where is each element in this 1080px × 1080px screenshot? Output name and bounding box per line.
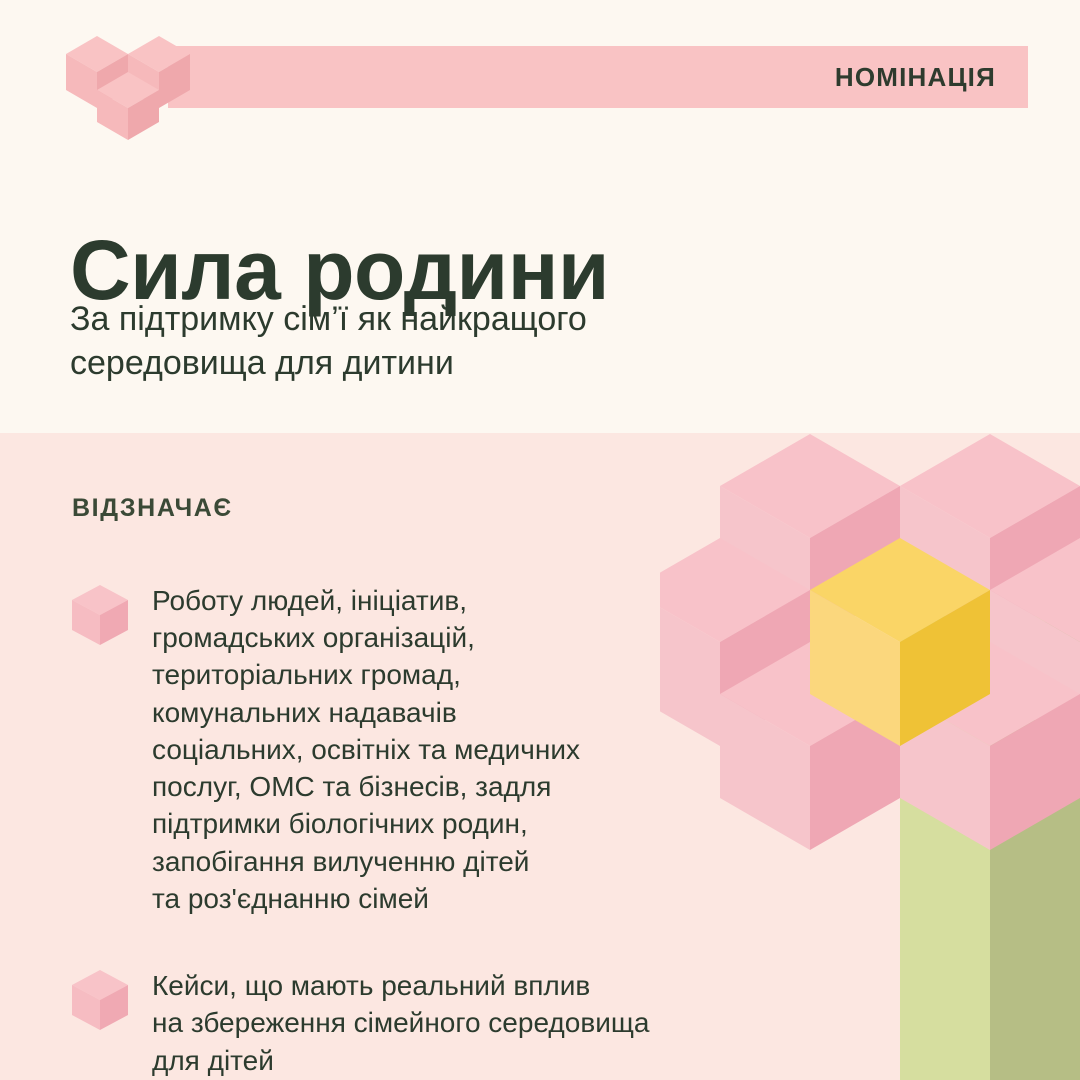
poster-canvas: НОМІНАЦІЯ Сила родини За підтримку сім’ї… (0, 0, 1080, 1080)
isometric-cube-bullet-icon (72, 969, 128, 1031)
list-item-text: Кейси, що мають реальний вплив на збереж… (152, 965, 649, 1079)
nomination-badge-bar: НОМІНАЦІЯ (168, 46, 1028, 108)
list-item-text: Роботу людей, ініціатив, громадських орг… (152, 580, 580, 917)
page-subtitle: За підтримку сім’ї як найкращого середов… (70, 298, 730, 385)
isometric-heart-logo-icon (66, 24, 190, 140)
isometric-cube-bullet-icon (72, 584, 128, 646)
nomination-badge-label: НОМІНАЦІЯ (835, 46, 996, 108)
isometric-cube-flower-illustration (660, 382, 1080, 1080)
section-heading: ВІДЗНАЧАЄ (72, 494, 233, 523)
